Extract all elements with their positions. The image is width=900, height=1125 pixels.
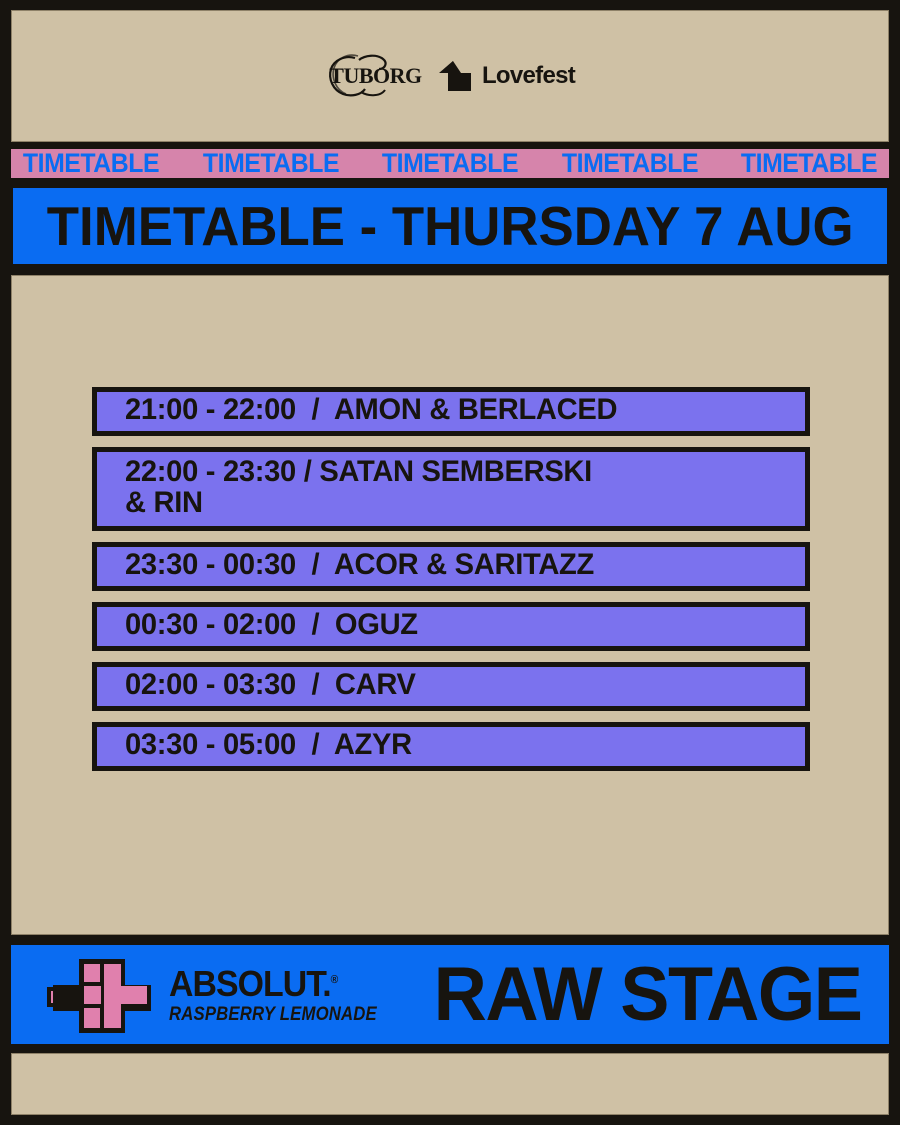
schedule-row-text: 03:30 - 05:00 / AZYR (125, 730, 412, 761)
timetable-poster: TUBORG Lovefest TIMETABLE TIMETABLE TIME… (0, 0, 900, 1125)
tuborg-wordmark: TUBORG (320, 63, 421, 89)
marquee-word: TIMETABLE (561, 150, 697, 177)
marquee-word: TIMETABLE (382, 150, 518, 177)
stage-name: RAW STAGE (434, 957, 862, 1033)
absolut-brand-name: ABSOLUT.® (169, 966, 391, 1002)
schedule-row-text: 00:30 - 02:00 / OGUZ (125, 610, 418, 641)
registered-mark: ® (331, 974, 339, 986)
timetable-marquee: TIMETABLE TIMETABLE TIMETABLE TIMETABLE … (11, 147, 889, 180)
absolut-cross-icon (45, 955, 153, 1035)
schedule-row-text: 23:30 - 00:30 / ACOR & SARITAZZ (125, 550, 594, 581)
schedule-row: 02:00 - 03:30 / CARV (92, 662, 810, 711)
lovefest-logo: Lovefest (439, 61, 575, 91)
absolut-flavor: RASPBERRY LEMONADE (169, 1005, 377, 1024)
page-title: TIMETABLE - THURSDAY 7 AUG (47, 199, 854, 254)
schedule-row-text: 02:00 - 03:30 / CARV (125, 670, 416, 701)
lovefest-wordmark: Lovefest (482, 62, 575, 90)
tuborg-logo: TUBORG (325, 56, 417, 96)
absolut-wordmark: ABSOLUT.® RASPBERRY LEMONADE (169, 966, 405, 1024)
schedule-row: 22:00 - 23:30 / SATAN SEMBERSKI & RIN (92, 447, 810, 531)
absolut-logo: ABSOLUT.® RASPBERRY LEMONADE (45, 955, 405, 1035)
logo-row: TUBORG Lovefest (11, 10, 889, 142)
schedule-list: 21:00 - 22:00 / AMON & BERLACED 22:00 - … (92, 387, 810, 771)
schedule-row-text: 21:00 - 22:00 / AMON & BERLACED (125, 395, 617, 426)
marquee-word: TIMETABLE (741, 150, 877, 177)
schedule-row: 23:30 - 00:30 / ACOR & SARITAZZ (92, 542, 810, 591)
schedule-row: 21:00 - 22:00 / AMON & BERLACED (92, 387, 810, 436)
schedule-row-text: 22:00 - 23:30 / SATAN SEMBERSKI & RIN (125, 457, 592, 519)
title-bar: TIMETABLE - THURSDAY 7 AUG (11, 186, 889, 266)
marquee-word: TIMETABLE (202, 150, 338, 177)
stage-footer-bar: ABSOLUT.® RASPBERRY LEMONADE RAW STAGE (11, 942, 889, 1047)
lovefest-arrow-icon (439, 61, 471, 91)
schedule-row: 03:30 - 05:00 / AZYR (92, 722, 810, 771)
marquee-word: TIMETABLE (23, 150, 159, 177)
absolut-brand-text: ABSOLUT. (169, 963, 331, 1004)
bottom-panel (11, 1053, 889, 1115)
schedule-row: 00:30 - 02:00 / OGUZ (92, 602, 810, 651)
